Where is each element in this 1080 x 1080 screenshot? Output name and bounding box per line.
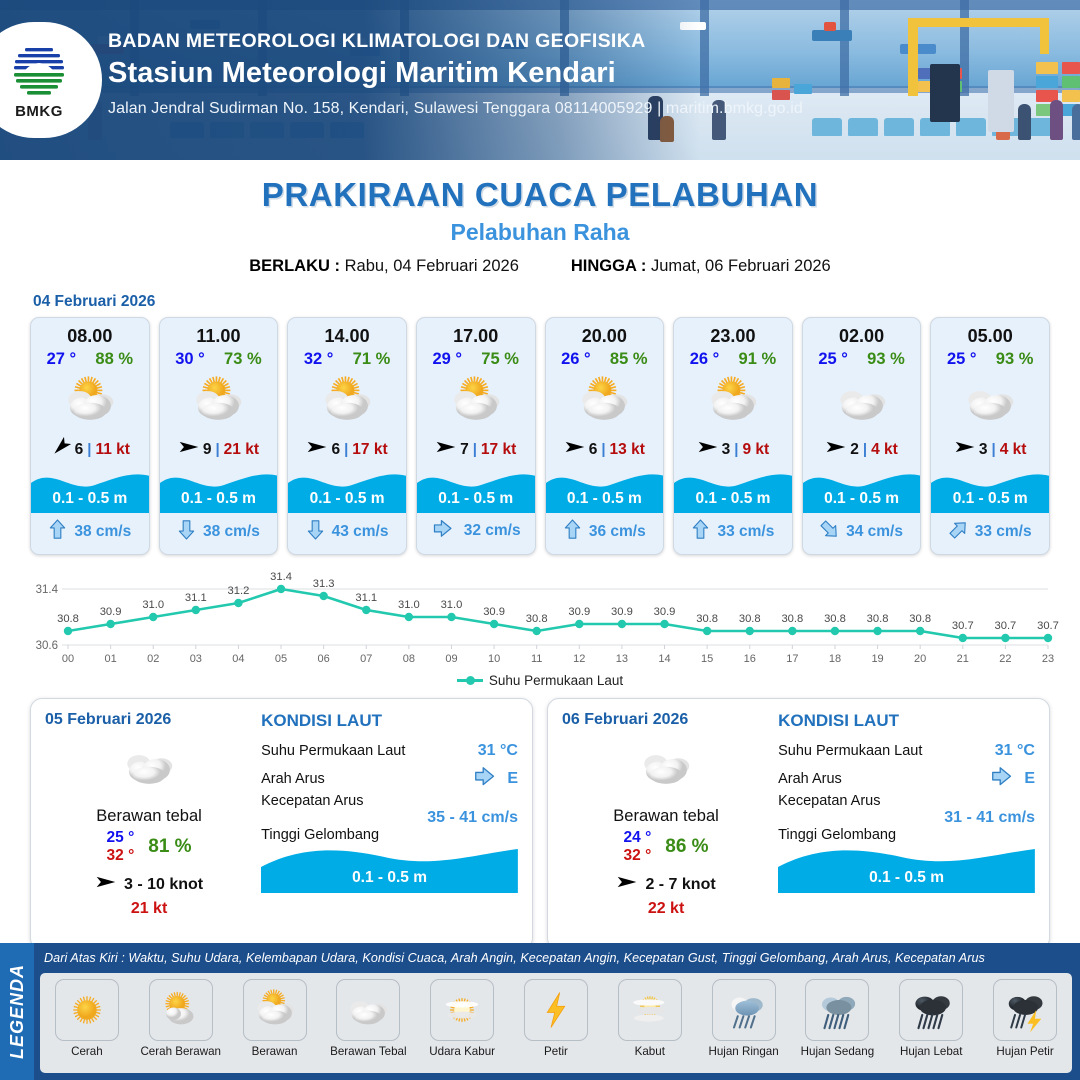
wave-height-label: Tinggi Gelombang	[778, 827, 1035, 843]
card-gust: 9 kt	[742, 441, 769, 459]
card-gust: 17 kt	[481, 441, 516, 459]
svg-text:06: 06	[318, 653, 330, 665]
card-gust: 17 kt	[352, 441, 387, 459]
wind-direction-arrow-icon	[50, 439, 72, 460]
card-gust: 4 kt	[871, 441, 898, 459]
card-temperature: 29 °	[432, 350, 462, 369]
card-wave-height: 0.1 - 0.5 m	[31, 490, 149, 508]
card-time: 05.00	[931, 318, 1049, 349]
legend-items: Cerah Cerah Berawan	[40, 973, 1072, 1073]
sea-condition-title: KONDISI LAUT	[261, 711, 518, 731]
legend-item: Hujan Ringan	[698, 979, 790, 1058]
svg-text:03: 03	[190, 653, 202, 665]
svg-text:11: 11	[531, 653, 542, 665]
validity-row: BERLAKU : Rabu, 04 Februari 2026 HINGGA …	[0, 257, 1080, 276]
svg-text:30.8: 30.8	[909, 613, 931, 625]
card-gust: 4 kt	[1000, 441, 1027, 459]
svg-text:00: 00	[62, 653, 74, 665]
card-humidity: 91 %	[739, 350, 777, 369]
lightning-icon	[524, 979, 588, 1041]
valid-to-label: HINGGA :	[571, 257, 646, 275]
card-separator: |	[863, 441, 867, 458]
legend-item-label: Cerah	[41, 1045, 133, 1058]
card-time: 11.00	[160, 318, 278, 349]
day-temp-min: 25 °	[107, 829, 135, 847]
card-wind-scale: 2	[850, 441, 859, 459]
svg-text:31.0: 31.0	[441, 599, 463, 611]
svg-text:14: 14	[658, 653, 670, 665]
daily-forecast-panels: 05 Februari 2026	[0, 692, 1080, 950]
wind-direction-arrow-icon	[95, 874, 117, 895]
current-speed-label: Kecepatan Arus	[261, 793, 518, 809]
svg-text:30.8: 30.8	[781, 613, 803, 625]
svg-text:05: 05	[275, 653, 287, 665]
day-date: 05 Februari 2026	[45, 711, 253, 729]
svg-text:31.3: 31.3	[313, 578, 335, 590]
card-time: 23.00	[674, 318, 792, 349]
svg-text:19: 19	[871, 653, 883, 665]
day-wind-range: 3 - 10 knot	[124, 876, 203, 894]
card-humidity: 93 %	[996, 350, 1034, 369]
svg-text:30.7: 30.7	[995, 620, 1017, 632]
card-humidity: 71 %	[353, 350, 391, 369]
bmkg-logo-text: BMKG	[15, 103, 63, 120]
card-humidity: 85 %	[610, 350, 648, 369]
hourly-card: 02.00 25 ° 93 %	[802, 317, 922, 555]
day-wave-value: 0.1 - 0.5 m	[261, 869, 518, 887]
svg-text:31.0: 31.0	[142, 599, 164, 611]
sst-label: Suhu Permukaan Laut	[261, 743, 405, 759]
hourly-card: 23.00 26 ° 91 %	[673, 317, 793, 555]
svg-text:30.8: 30.8	[824, 613, 846, 625]
day-wind-range: 2 - 7 knot	[645, 876, 715, 894]
valid-from-value: Rabu, 04 Februari 2026	[345, 257, 519, 275]
card-wind-scale: 6	[75, 441, 84, 459]
card-time: 02.00	[803, 318, 921, 349]
svg-text:30.9: 30.9	[483, 606, 505, 618]
current-direction-arrow-icon	[989, 765, 1017, 792]
card-separator: |	[344, 441, 348, 458]
wind-direction-arrow-icon	[435, 439, 457, 460]
current-speed-value: 31 - 41 cm/s	[778, 809, 1035, 827]
card-current-speed: 38 cm/s	[74, 523, 131, 541]
svg-text:30.8: 30.8	[696, 613, 718, 625]
page-title-block: PRAKIRAAN CUACA PELABUHAN Pelabuhan Raha…	[0, 176, 1080, 276]
sea-condition-title: KONDISI LAUT	[778, 711, 1035, 731]
svg-text:02: 02	[147, 653, 159, 665]
card-separator: |	[734, 441, 738, 458]
legend-tab-label: LEGENDA	[7, 964, 28, 1059]
day-gust: 21 kt	[45, 900, 253, 918]
card-wave-band: 0.1 - 0.5 m	[417, 467, 535, 513]
card-wave-band: 0.1 - 0.5 m	[803, 467, 921, 513]
svg-text:23: 23	[1042, 653, 1054, 665]
card-wave-height: 0.1 - 0.5 m	[160, 490, 278, 508]
card-temperature: 25 °	[818, 350, 848, 369]
svg-text:07: 07	[360, 653, 372, 665]
legend-item: Hujan Lebat	[885, 979, 977, 1058]
legend-tab: LEGENDA	[0, 943, 34, 1080]
legend-item: Petir	[510, 979, 602, 1058]
card-wave-band: 0.1 - 0.5 m	[288, 467, 406, 513]
svg-text:31.2: 31.2	[228, 585, 250, 597]
svg-text:22: 22	[999, 653, 1011, 665]
card-temperature: 32 °	[304, 350, 334, 369]
fog-icon	[618, 979, 682, 1041]
svg-text:31.4: 31.4	[270, 571, 292, 583]
legend-item: Berawan Tebal	[322, 979, 414, 1058]
svg-text:10: 10	[488, 653, 500, 665]
card-wave-height: 0.1 - 0.5 m	[803, 490, 921, 508]
current-speed-value: 35 - 41 cm/s	[261, 809, 518, 827]
svg-text:30.8: 30.8	[526, 613, 548, 625]
partly-cloudy-icon	[288, 371, 406, 433]
partly-cloudy-icon	[674, 371, 792, 433]
svg-text:31.1: 31.1	[355, 592, 377, 604]
current-direction-arrow-icon	[691, 518, 710, 546]
current-direction-value: E	[507, 770, 518, 788]
wind-direction-arrow-icon	[825, 439, 847, 460]
valid-to: HINGGA : Jumat, 06 Februari 2026	[571, 257, 831, 276]
current-direction-arrow-icon	[306, 518, 325, 546]
card-separator: |	[87, 441, 91, 458]
svg-text:01: 01	[104, 653, 116, 665]
card-temperature: 25 °	[947, 350, 977, 369]
day-date: 06 Februari 2026	[562, 711, 770, 729]
cloudy-icon	[562, 735, 770, 797]
card-current-speed: 33 cm/s	[717, 523, 774, 541]
svg-text:30.6: 30.6	[36, 640, 58, 652]
card-separator: |	[215, 441, 219, 458]
card-wave-height: 0.1 - 0.5 m	[288, 490, 406, 508]
card-wind-scale: 6	[589, 441, 598, 459]
current-speed-label: Kecepatan Arus	[778, 793, 1035, 809]
legend-item: Cerah Berawan	[135, 979, 227, 1058]
thunderstorm-icon	[993, 979, 1057, 1041]
legend-strip: LEGENDA Dari Atas Kiri : Waktu, Suhu Uda…	[0, 943, 1080, 1080]
legend-item: Cerah	[41, 979, 133, 1058]
wave-height-label: Tinggi Gelombang	[261, 827, 518, 843]
card-wind-scale: 6	[331, 441, 340, 459]
moderate-rain-icon	[805, 979, 869, 1041]
legend-item-label: Cerah Berawan	[135, 1045, 227, 1058]
card-wind-scale: 3	[979, 441, 988, 459]
sst-chart: 31.430.600010203040506070809101112131415…	[20, 563, 1060, 671]
station-name: Stasiun Meteorologi Maritim Kendari	[108, 57, 803, 90]
card-current-speed: 38 cm/s	[203, 523, 260, 541]
cloudy-icon	[336, 979, 400, 1041]
current-direction-arrow-icon	[431, 518, 457, 544]
day-humidity: 81 %	[148, 836, 191, 858]
svg-text:30.8: 30.8	[57, 613, 79, 625]
legend-item: Udara Kabur	[416, 979, 508, 1058]
chart-legend: Suhu Permukaan Laut	[0, 673, 1080, 688]
station-contact: Jalan Jendral Sudirman No. 158, Kendari,…	[108, 100, 803, 118]
current-direction-arrow-icon	[949, 518, 968, 546]
page-header: BMKG BADAN METEOROLOGI KLIMATOLOGI DAN G…	[0, 0, 1080, 160]
light-rain-icon	[712, 979, 776, 1041]
card-wind-scale: 7	[460, 441, 469, 459]
chart-legend-swatch	[457, 679, 483, 682]
card-temperature: 30 °	[175, 350, 205, 369]
sst-value: 31 °C	[995, 742, 1035, 760]
valid-from: BERLAKU : Rabu, 04 Februari 2026	[249, 257, 519, 276]
card-time: 14.00	[288, 318, 406, 349]
card-current-speed: 34 cm/s	[846, 523, 903, 541]
partly-cloudy-icon	[160, 371, 278, 433]
partly-cloudy-icon	[546, 371, 664, 433]
cloudy-icon	[803, 371, 921, 433]
current-direction-label: Arah Arus	[261, 771, 325, 787]
legend-item-label: Berawan Tebal	[322, 1045, 414, 1058]
current-direction-arrow-icon	[563, 518, 582, 546]
partly-cloudy-icon	[31, 371, 149, 433]
svg-text:30.8: 30.8	[739, 613, 761, 625]
svg-text:12: 12	[573, 653, 585, 665]
legend-item-label: Hujan Lebat	[885, 1045, 977, 1058]
card-separator: |	[992, 441, 996, 458]
hourly-card: 08.00 27 ° 88 %	[30, 317, 150, 555]
wind-direction-arrow-icon	[954, 439, 976, 460]
current-direction-arrow-icon	[820, 518, 839, 546]
daily-forecast-panel: 06 Februari 2026	[547, 698, 1050, 950]
page-title: PRAKIRAAN CUACA PELABUHAN	[0, 176, 1080, 214]
wind-direction-arrow-icon	[178, 439, 200, 460]
current-direction-arrow-icon	[472, 765, 500, 792]
legend-item-label: Kabut	[604, 1045, 696, 1058]
svg-text:31.4: 31.4	[36, 584, 59, 596]
valid-to-value: Jumat, 06 Februari 2026	[651, 257, 831, 275]
valid-from-label: BERLAKU :	[249, 257, 340, 275]
chart-legend-label: Suhu Permukaan Laut	[489, 673, 623, 688]
hourly-card: 05.00 25 ° 93 %	[930, 317, 1050, 555]
card-wave-band: 0.1 - 0.5 m	[931, 467, 1049, 513]
day-temp-max: 32 °	[624, 847, 652, 865]
legend-item-label: Hujan Petir	[979, 1045, 1071, 1058]
svg-text:09: 09	[445, 653, 457, 665]
legend-item: Hujan Sedang	[791, 979, 883, 1058]
svg-text:13: 13	[616, 653, 628, 665]
card-wave-height: 0.1 - 0.5 m	[417, 490, 535, 508]
card-wave-band: 0.1 - 0.5 m	[160, 467, 278, 513]
agency-name: BADAN METEOROLOGI KLIMATOLOGI DAN GEOFIS…	[108, 30, 803, 53]
card-humidity: 73 %	[224, 350, 262, 369]
current-direction-label: Arah Arus	[778, 771, 842, 787]
card-wave-height: 0.1 - 0.5 m	[931, 490, 1049, 508]
partly-cloudy-icon	[417, 371, 535, 433]
hourly-date-label: 04 Februari 2026	[33, 293, 1080, 311]
legend-item: Hujan Petir	[979, 979, 1071, 1058]
partly-cloudy-icon	[243, 979, 307, 1041]
hourly-card: 20.00 26 ° 85 %	[545, 317, 665, 555]
svg-text:08: 08	[403, 653, 415, 665]
cloudy-icon	[45, 735, 253, 797]
svg-text:31.1: 31.1	[185, 592, 207, 604]
card-wind-scale: 3	[722, 441, 731, 459]
hourly-card: 17.00 29 ° 75 %	[416, 317, 536, 555]
card-temperature: 26 °	[561, 350, 591, 369]
card-current-speed: 33 cm/s	[975, 523, 1032, 541]
day-wave-band: 0.1 - 0.5 m	[778, 845, 1035, 893]
card-wave-band: 0.1 - 0.5 m	[546, 467, 664, 513]
current-direction-value: E	[1024, 770, 1035, 788]
day-wave-value: 0.1 - 0.5 m	[778, 869, 1035, 887]
card-separator: |	[601, 441, 605, 458]
day-wave-band: 0.1 - 0.5 m	[261, 845, 518, 893]
svg-text:18: 18	[829, 653, 841, 665]
day-temp-max: 32 °	[107, 847, 135, 865]
current-direction-arrow-icon	[177, 518, 196, 546]
wind-direction-arrow-icon	[616, 874, 638, 895]
svg-text:30.8: 30.8	[867, 613, 889, 625]
current-direction-arrow-icon	[48, 518, 67, 546]
svg-text:21: 21	[957, 653, 969, 665]
svg-text:17: 17	[786, 653, 798, 665]
day-gust: 22 kt	[562, 900, 770, 918]
card-gust: 13 kt	[610, 441, 645, 459]
legend-item-label: Berawan	[229, 1045, 321, 1058]
svg-text:30.9: 30.9	[100, 606, 122, 618]
heavy-rain-icon	[899, 979, 963, 1041]
card-humidity: 93 %	[867, 350, 905, 369]
sst-value: 31 °C	[478, 742, 518, 760]
card-temperature: 27 °	[47, 350, 77, 369]
card-separator: |	[473, 441, 477, 458]
sunny-cloudy-icon	[149, 979, 213, 1041]
legend-item-label: Hujan Ringan	[698, 1045, 790, 1058]
legend-item-label: Petir	[510, 1045, 602, 1058]
wind-direction-arrow-icon	[564, 439, 586, 460]
day-condition: Berawan tebal	[45, 807, 253, 826]
sst-label: Suhu Permukaan Laut	[778, 743, 922, 759]
svg-text:30.9: 30.9	[654, 606, 676, 618]
day-condition: Berawan tebal	[562, 807, 770, 826]
card-wind-scale: 9	[203, 441, 212, 459]
bmkg-logo-mark	[5, 41, 73, 101]
card-humidity: 75 %	[481, 350, 519, 369]
card-gust: 21 kt	[224, 441, 259, 459]
svg-text:30.9: 30.9	[568, 606, 590, 618]
card-wave-height: 0.1 - 0.5 m	[674, 490, 792, 508]
card-current-speed: 43 cm/s	[332, 523, 389, 541]
card-gust: 11 kt	[95, 441, 129, 459]
daily-forecast-panel: 05 Februari 2026	[30, 698, 533, 950]
svg-text:04: 04	[232, 653, 244, 665]
svg-text:30.9: 30.9	[611, 606, 633, 618]
card-current-speed: 32 cm/s	[464, 522, 521, 540]
svg-text:30.7: 30.7	[1037, 620, 1059, 632]
haze-icon	[430, 979, 494, 1041]
port-name: Pelabuhan Raha	[0, 219, 1080, 246]
legend-note: Dari Atas Kiri : Waktu, Suhu Udara, Kele…	[44, 951, 985, 965]
svg-text:30.7: 30.7	[952, 620, 974, 632]
hourly-card: 14.00 32 ° 71 %	[287, 317, 407, 555]
card-wave-band: 0.1 - 0.5 m	[674, 467, 792, 513]
card-humidity: 88 %	[95, 350, 133, 369]
card-time: 08.00	[31, 318, 149, 349]
svg-text:15: 15	[701, 653, 713, 665]
legend-item: Kabut	[604, 979, 696, 1058]
hourly-card: 11.00 30 ° 73 %	[159, 317, 279, 555]
svg-text:31.0: 31.0	[398, 599, 420, 611]
legend-item-label: Udara Kabur	[416, 1045, 508, 1058]
card-current-speed: 36 cm/s	[589, 523, 646, 541]
svg-text:20: 20	[914, 653, 926, 665]
svg-text:16: 16	[744, 653, 756, 665]
day-humidity: 86 %	[665, 836, 708, 858]
card-wave-height: 0.1 - 0.5 m	[546, 490, 664, 508]
sunny-icon	[55, 979, 119, 1041]
wind-direction-arrow-icon	[697, 439, 719, 460]
hourly-forecast-cards: 08.00 27 ° 88 %	[0, 317, 1080, 555]
day-temp-min: 24 °	[624, 829, 652, 847]
card-time: 20.00	[546, 318, 664, 349]
card-time: 17.00	[417, 318, 535, 349]
legend-item-label: Hujan Sedang	[791, 1045, 883, 1058]
wind-direction-arrow-icon	[306, 439, 328, 460]
card-temperature: 26 °	[690, 350, 720, 369]
card-wave-band: 0.1 - 0.5 m	[31, 467, 149, 513]
legend-item: Berawan	[229, 979, 321, 1058]
cloudy-icon	[931, 371, 1049, 433]
